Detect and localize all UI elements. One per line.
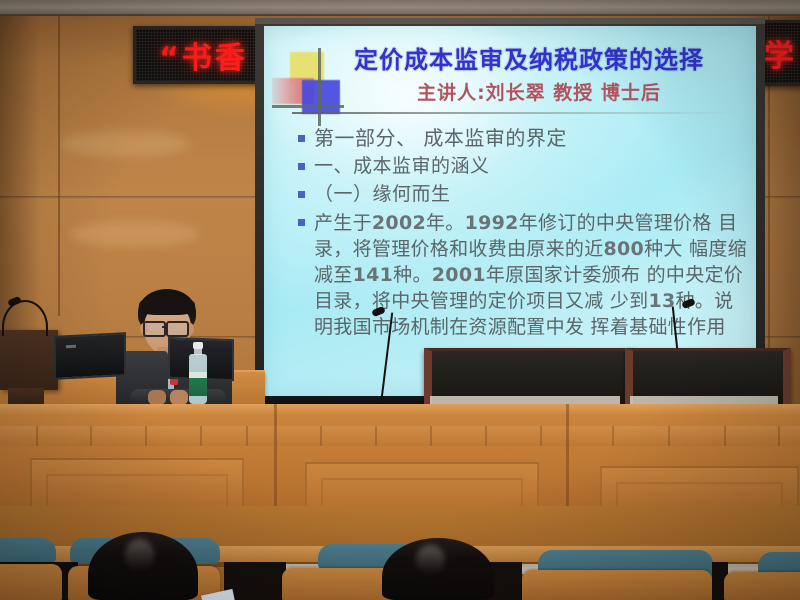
laptop-screen	[54, 332, 126, 380]
seat-back-front[interactable]	[0, 564, 62, 600]
led-banner-left-text: “书香	[136, 29, 271, 81]
presentation-slide: 定价成本监审及纳税政策的选择 主讲人:刘长翠 教授 博士后 第一部分、 成本监审…	[264, 26, 756, 396]
wall-vertical-seam	[58, 16, 60, 316]
bottle-cap	[193, 342, 203, 349]
bottle-label-stripe	[189, 372, 207, 378]
water-bottle	[188, 342, 208, 404]
seat-cushion-back[interactable]	[0, 538, 56, 564]
presenter-hand	[148, 390, 166, 405]
projection-screen: 定价成本监审及纳税政策的选择 主讲人:刘长翠 教授 博士后 第一部分、 成本监审…	[264, 26, 756, 396]
audience-seating	[0, 506, 800, 600]
list-item-paragraph: 产生于2002年。1992年修订的中央管理价格 目录，将管理价格和收费由原来的近…	[292, 210, 747, 340]
list-item: 第一部分、 成本监审的界定	[292, 126, 747, 151]
laptop-logo-icon	[66, 345, 76, 349]
rostrum-top-surface	[0, 404, 800, 416]
paragraph-text: 产生于2002年。1992年修订的中央管理价格 目录，将管理价格和收费由原来的近…	[314, 210, 747, 340]
hair-highlight	[416, 545, 445, 575]
bullet-square-icon	[298, 191, 305, 198]
laptop-open	[48, 334, 126, 378]
bullet-square-icon	[298, 163, 305, 170]
slide-subtitle: 主讲人:刘长翠 教授 博士后	[324, 78, 754, 105]
rostrum-seam	[274, 404, 277, 510]
bullet-text: 一、成本监审的涵义	[314, 154, 490, 179]
bullet-square-icon	[298, 219, 305, 226]
glasses-bridge	[162, 326, 168, 328]
bottle-neck	[194, 348, 202, 355]
bullet-text: （一）缘何而生	[314, 182, 451, 207]
bullet-square-icon	[298, 135, 305, 142]
front-rostrum-desk	[0, 404, 800, 510]
seat-back-front[interactable]	[522, 570, 712, 600]
list-item: 一、成本监审的涵义	[292, 154, 747, 179]
wall-sheen	[60, 131, 190, 157]
presenter-hand	[170, 390, 188, 405]
paragraph-line: 挥着基础性作用	[591, 316, 726, 338]
hair-highlight	[125, 539, 154, 572]
audience-person	[88, 532, 198, 600]
rostrum-seam	[566, 404, 569, 510]
paragraph-line: 产生于2002年。1992年修订的中央管理价格	[314, 212, 712, 234]
glasses-icon	[166, 321, 189, 337]
deco-horizontal-line	[272, 105, 344, 108]
slide-divider	[292, 112, 734, 114]
led-banner-left: “书香	[133, 26, 274, 84]
audience-person	[382, 538, 494, 600]
list-item: （一）缘何而生	[292, 182, 747, 207]
seat-back-front[interactable]	[724, 572, 800, 600]
wall-sheen	[70, 221, 200, 247]
lecture-hall-photo: “书香 学 定价成本监审及纳税政策的选择 主讲人:刘长翠 教授 博士后 第	[0, 0, 800, 600]
bullet-text: 第一部分、 成本监审的界定	[314, 126, 567, 151]
slide-bullet-list: 第一部分、 成本监审的界定 一、成本监审的涵义 （一）缘何而生 产生于2002年…	[292, 126, 747, 343]
glasses-icon	[143, 321, 166, 337]
slide-title: 定价成本监审及纳税政策的选择	[304, 40, 754, 75]
rostrum-trim-band	[0, 426, 800, 446]
presenter-fringe	[139, 295, 195, 315]
